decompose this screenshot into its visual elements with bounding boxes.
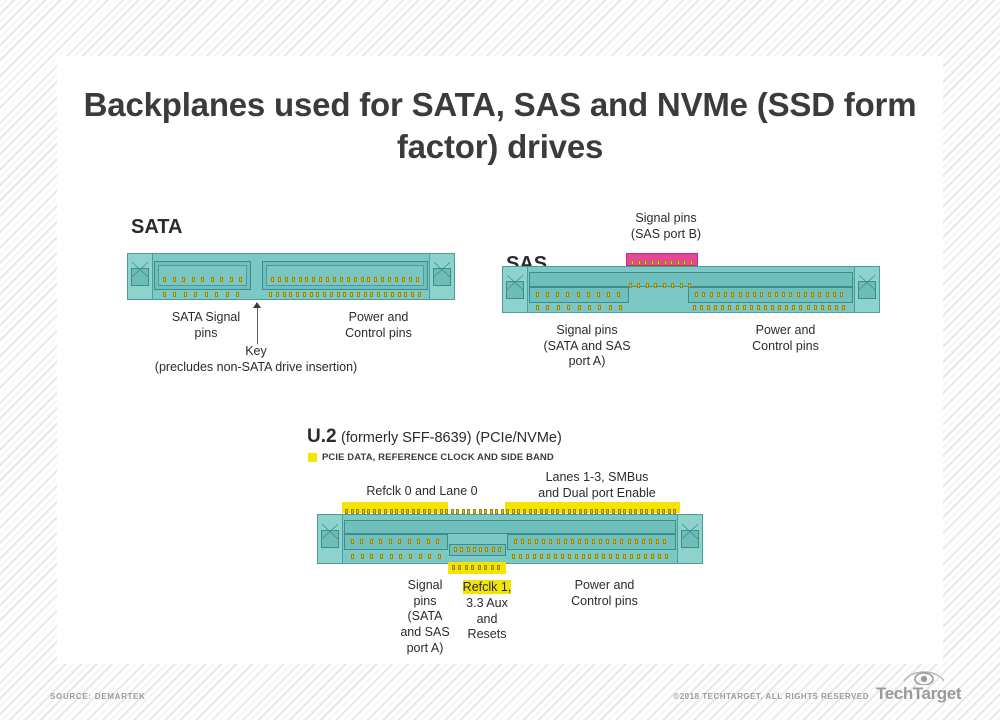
connector-end-cap-right	[854, 266, 880, 313]
sata-heading: SATA	[131, 216, 182, 239]
sas-signal-pins-label: Signal pins (SATA and SAS port A)	[512, 323, 662, 370]
sata-signal-cavity	[154, 261, 251, 290]
sas-upper-cavity	[529, 272, 853, 287]
u2-refclk1-pin-row	[452, 565, 500, 570]
sata-key-label: Key (precludes non-SATA drive insertion)	[111, 344, 401, 375]
u2-upper-cavity	[344, 520, 676, 534]
u2-heading-sub: (formerly SFF-8639) (PCIe/NVMe)	[341, 430, 562, 446]
connector-end-cap-left	[127, 253, 153, 300]
cavity-inner	[266, 265, 424, 286]
eye-icon	[902, 668, 946, 685]
section-u2: U.2 (formerly SFF-8639) (PCIe/NVMe) PCIE…	[297, 426, 717, 656]
u2-power-outer-pin-row	[512, 554, 668, 559]
connector-end-cap-right	[429, 253, 455, 300]
section-sata: SATA	[127, 216, 457, 426]
u2-signal-outer-pin-row	[351, 554, 441, 559]
techtarget-wordmark: TechTarget	[876, 684, 972, 704]
sas-connector-graphic	[502, 266, 880, 313]
u2-connector-graphic	[317, 514, 703, 564]
u2-aux-resets-label: 3.3 Aux and Resets	[447, 596, 527, 643]
source-credit: SOURCE: DEMARTEK	[50, 692, 146, 701]
sata-power-cavity	[262, 261, 428, 290]
u2-lanes-smbus-label: Lanes 1-3, SMBus and Dual port Enable	[502, 470, 692, 501]
copyright-text: ©2018 TECHTARGET. ALL RIGHTS RESERVED	[673, 692, 869, 706]
sata-power-pins-label: Power and Control pins	[311, 310, 446, 341]
u2-refclk1-label: Refclk 1,	[463, 580, 512, 594]
sata-power-inner-pin-row	[271, 277, 419, 282]
mount-bowtie-icon	[433, 268, 451, 286]
sata-signal-inner-pin-row	[163, 277, 242, 282]
connector-end-cap-left	[502, 266, 528, 313]
sata-connector-graphic	[127, 253, 455, 300]
sas-power-pins-label: Power and Control pins	[718, 323, 853, 354]
mount-bowtie-icon	[681, 530, 699, 548]
mount-bowtie-icon	[321, 530, 339, 548]
page-title: Backplanes used for SATA, SAS and NVMe (…	[57, 84, 943, 168]
sas-port-b-pin-row	[631, 260, 693, 265]
u2-power-inner-pin-row	[514, 539, 666, 544]
u2-signal-inner-pin-row	[351, 539, 439, 544]
connector-end-cap-right	[677, 514, 703, 564]
u2-heading-row: U.2 (formerly SFF-8639) (PCIe/NVMe)	[307, 426, 562, 448]
u2-legend: PCIE DATA, REFERENCE CLOCK AND SIDE BAND	[308, 452, 554, 463]
sas-power-inner-pin-row	[695, 292, 843, 297]
u2-refclk1-label-group: Refclk 1, 3.3 Aux and Resets	[447, 578, 527, 643]
u2-power-pins-label: Power and Control pins	[537, 578, 672, 609]
mount-bowtie-icon	[858, 281, 876, 299]
cavity-inner	[158, 265, 247, 286]
sas-signal-inner-pin-row	[536, 292, 620, 297]
techtarget-logo: TechTarget	[876, 668, 972, 706]
u2-refclk-center-pin-row	[454, 547, 501, 552]
legend-color-swatch	[308, 453, 317, 462]
section-sas: SAS Signal pins (SAS port B)	[502, 211, 892, 411]
footer-brand-area: ©2018 TECHTARGET. ALL RIGHTS RESERVED Te…	[673, 668, 972, 706]
sata-signal-outer-pin-row	[163, 292, 239, 297]
mount-bowtie-icon	[131, 268, 149, 286]
sata-power-outer-pin-row	[269, 292, 421, 297]
sata-signal-pins-label: SATA Signal pins	[141, 310, 271, 341]
key-leader-line	[257, 308, 258, 344]
connector-end-cap-left	[317, 514, 343, 564]
u2-heading: U.2	[307, 426, 337, 447]
sas-port-b-label: Signal pins (SAS port B)	[586, 211, 746, 242]
infographic-card: Backplanes used for SATA, SAS and NVMe (…	[57, 56, 943, 664]
mount-bowtie-icon	[506, 281, 524, 299]
sas-power-outer-pin-row	[693, 305, 845, 310]
sas-mid-pin-row	[629, 283, 691, 288]
legend-label: PCIE DATA, REFERENCE CLOCK AND SIDE BAND	[322, 452, 554, 463]
sas-signal-outer-pin-row	[536, 305, 622, 310]
u2-refclk0-lane0-label: Refclk 0 and Lane 0	[327, 484, 517, 500]
